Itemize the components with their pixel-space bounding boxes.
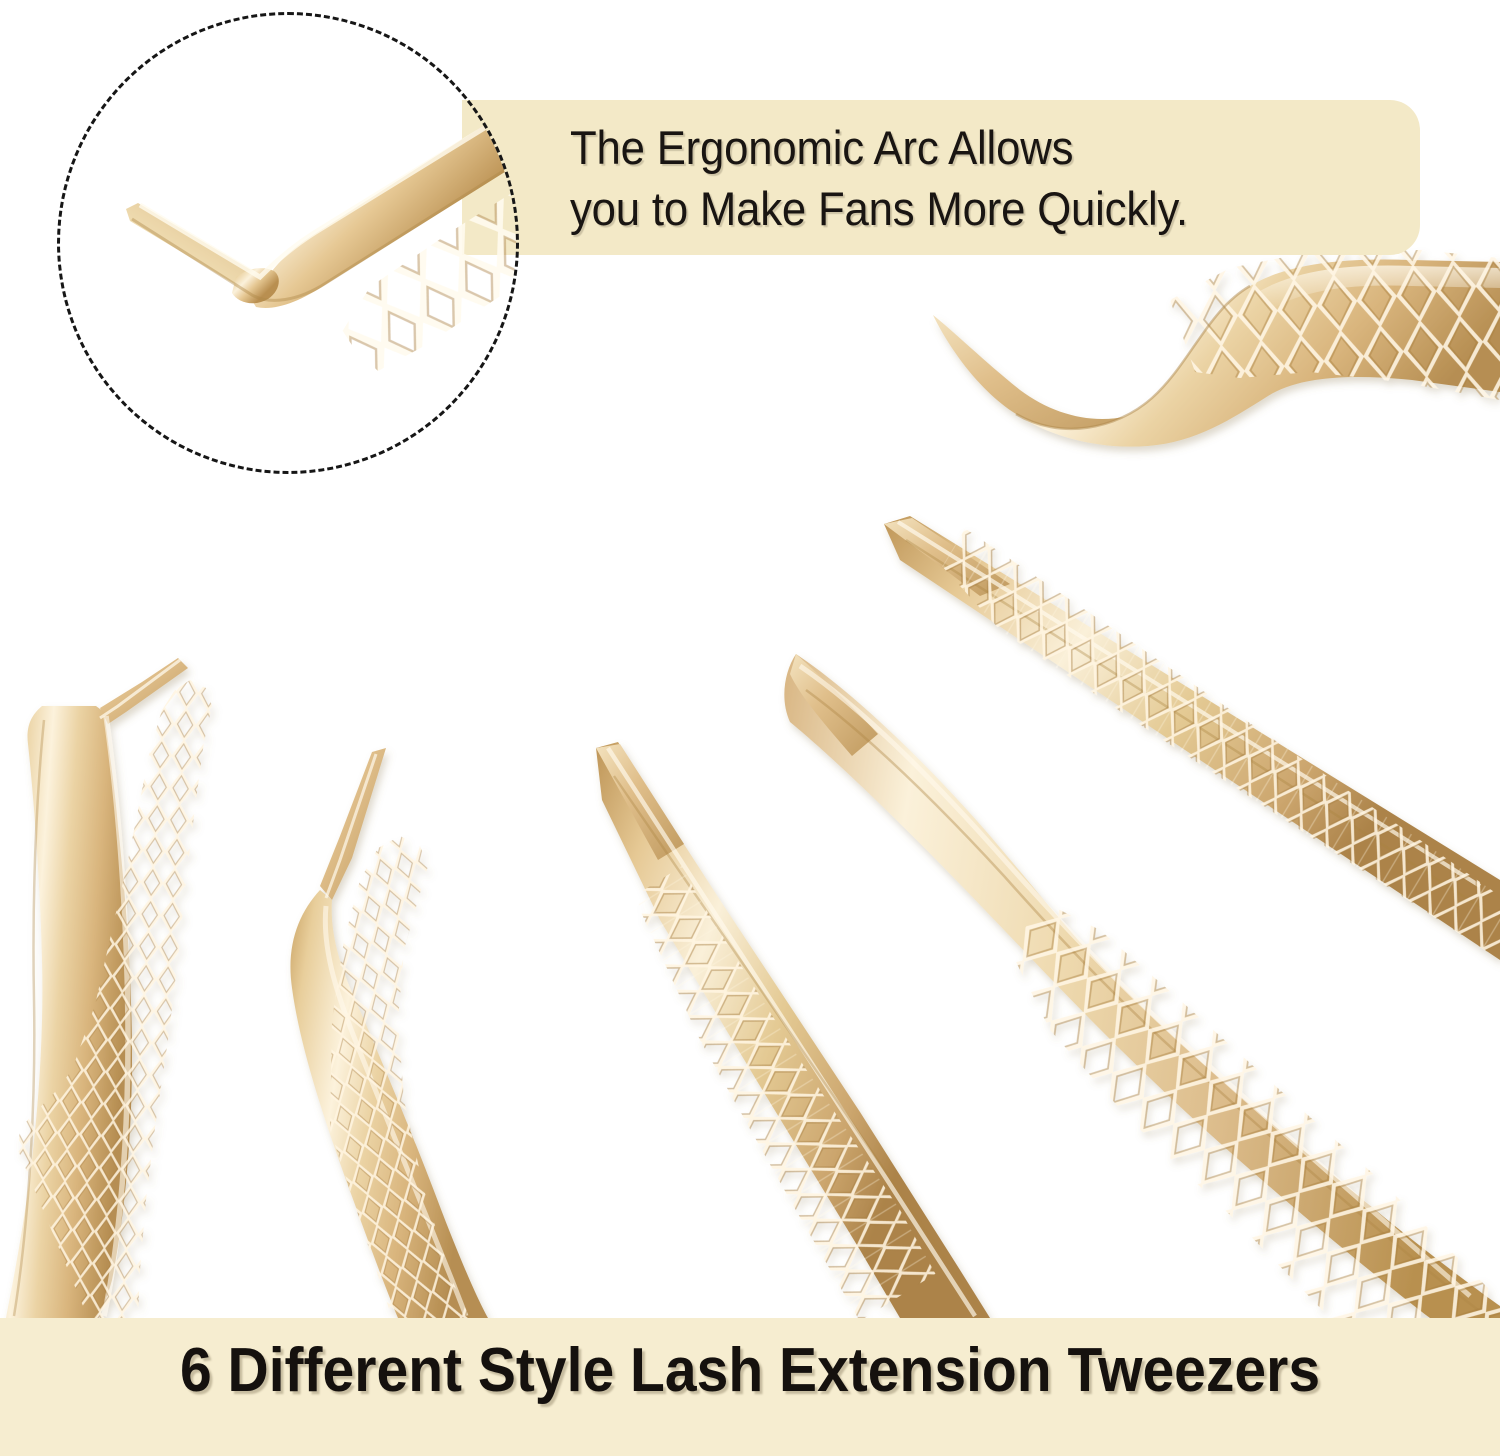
tweezer-boot-tip-left — [0, 653, 254, 1367]
magnifier-circle — [57, 12, 519, 474]
callout-text: The Ergonomic Arc Allows you to Make Fan… — [570, 117, 1351, 239]
tweezer-hook-tip — [209, 748, 610, 1381]
bottom-banner-title: 6 Different Style Lash Extension Tweezer… — [60, 1340, 1440, 1402]
magnifier-dashed-border — [57, 12, 519, 474]
product-image-canvas: The Ergonomic Arc Allows you to Make Fan… — [0, 0, 1500, 1456]
